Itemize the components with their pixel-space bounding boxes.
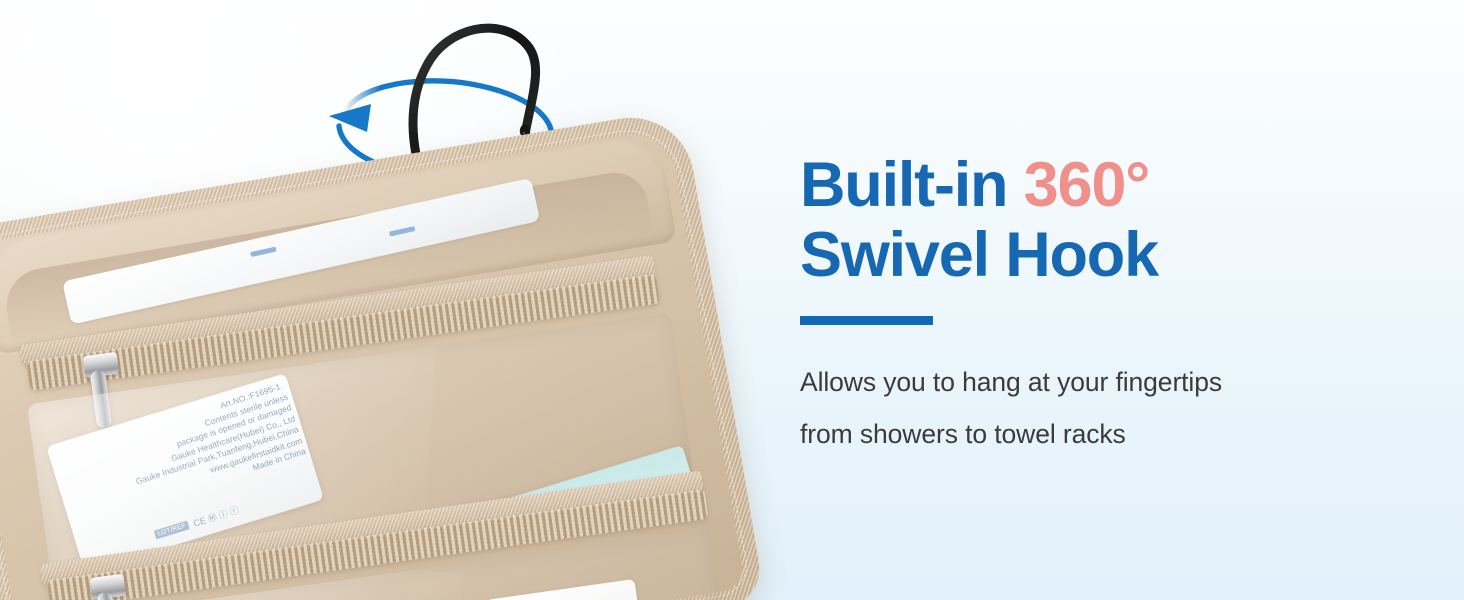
subcopy: Allows you to hang at your fingertips fr… bbox=[800, 356, 1400, 460]
headline-prefix: Built-in bbox=[800, 150, 1024, 220]
product-feature-banner: Art.NO.:F1695-1 Contents sterile unless … bbox=[0, 0, 1464, 600]
headline: Built-in 360°Swivel Hook bbox=[800, 150, 1158, 290]
toiletry-pouch: Art.NO.:F1695-1 Contents sterile unless … bbox=[0, 105, 788, 600]
divider-bar bbox=[800, 316, 933, 325]
gauze-lot-mark: LOT/REF bbox=[154, 520, 190, 539]
gauze-certification-marks: LOT/REF CE Ⓜ ⓘ ⓡ bbox=[153, 503, 240, 541]
cotton-strip bbox=[486, 579, 646, 600]
gauze-label-text: Art.NO.:F1695-1 Contents sterile unless … bbox=[56, 380, 307, 530]
zipper-pull-lower[interactable] bbox=[90, 575, 121, 600]
gauze-line1: Contents sterile unless bbox=[203, 391, 289, 428]
headline-line2: Swivel Hook bbox=[800, 220, 1158, 290]
subcopy-line1: Allows you to hang at your fingertips bbox=[800, 356, 1400, 408]
subcopy-line2: from showers to towel racks bbox=[800, 408, 1400, 460]
gauze-line4: Gauke Industrial Park,Tuanfeng,Hubei,Chi… bbox=[135, 424, 300, 486]
product-image-area: Art.NO.:F1695-1 Contents sterile unless … bbox=[0, 0, 760, 600]
gauze-line2: package is opened or damaged bbox=[175, 402, 292, 449]
gauze-line5: www.gaukefirstaidkit.com bbox=[209, 435, 304, 474]
gauze-line3: Gauke Healthcare(Hubei) Co., Ltd bbox=[170, 413, 297, 463]
gauze-line6: Made in China bbox=[251, 446, 307, 473]
marketing-text-panel: Built-in 360°Swivel Hook Allows you to h… bbox=[800, 0, 1420, 600]
gauze-symbols: CE Ⓜ ⓘ ⓡ bbox=[192, 503, 241, 529]
headline-accent-360: 360° bbox=[1024, 150, 1150, 220]
